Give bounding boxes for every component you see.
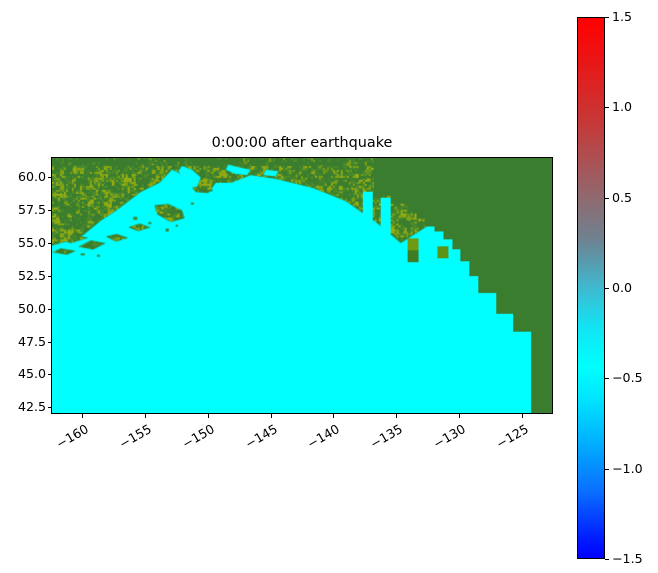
y-tick-label: 52.5 <box>18 269 46 283</box>
colorbar-tick-label: −0.5 <box>612 371 643 385</box>
x-tick-mark <box>208 414 209 418</box>
x-tick-label: −125 <box>470 422 531 465</box>
colorbar-tick-mark <box>605 17 609 18</box>
x-tick-mark <box>396 414 397 418</box>
colorbar-tick-label: −1.0 <box>612 462 643 476</box>
colorbar-tick-label: 1.0 <box>612 100 632 114</box>
y-tick-mark <box>48 374 52 375</box>
y-tick-mark <box>48 276 52 277</box>
colorbar-tick-mark <box>605 107 609 108</box>
colorbar-tick-label: 1.5 <box>612 10 632 24</box>
x-tick-mark <box>459 414 460 418</box>
y-tick-mark <box>48 407 52 408</box>
x-tick-label: −130 <box>407 422 468 465</box>
figure-canvas: 0:00:00 after earthquake 42.545.047.550.… <box>0 0 658 573</box>
tsunami-heightfield-image <box>52 158 552 413</box>
y-tick-mark <box>48 210 52 211</box>
x-tick-mark <box>333 414 334 418</box>
x-tick-mark <box>82 414 83 418</box>
x-tick-mark <box>271 414 272 418</box>
colorbar[interactable] <box>577 17 605 559</box>
colorbar-tick-mark <box>605 288 609 289</box>
y-tick-mark <box>48 177 52 178</box>
y-tick-label: 50.0 <box>18 302 46 316</box>
colorbar-tick-mark <box>605 469 609 470</box>
colorbar-tick-label: −1.5 <box>612 552 643 566</box>
map-axes[interactable] <box>51 157 553 414</box>
colorbar-tick-mark <box>605 559 609 560</box>
y-tick-mark <box>48 309 52 310</box>
y-tick-label: 45.0 <box>18 367 46 381</box>
x-tick-mark <box>145 414 146 418</box>
x-tick-mark <box>522 414 523 418</box>
y-tick-label: 60.0 <box>18 170 46 184</box>
x-tick-label: −150 <box>156 422 217 465</box>
colorbar-tick-label: 0.0 <box>612 281 632 295</box>
y-tick-label: 57.5 <box>18 203 46 217</box>
colorbar-tick-label: 0.5 <box>612 191 632 205</box>
y-tick-mark <box>48 243 52 244</box>
y-tick-mark <box>48 342 52 343</box>
x-tick-label: −145 <box>219 422 280 465</box>
page-title: 0:00:00 after earthquake <box>51 134 553 152</box>
y-tick-label: 47.5 <box>18 335 46 349</box>
colorbar-tick-mark <box>605 378 609 379</box>
x-tick-label: −160 <box>31 422 92 465</box>
x-tick-label: −135 <box>344 422 405 465</box>
x-tick-label: −140 <box>282 422 343 465</box>
colorbar-tick-mark <box>605 198 609 199</box>
y-tick-label: 55.0 <box>18 236 46 250</box>
x-tick-label: −155 <box>93 422 154 465</box>
y-tick-label: 42.5 <box>18 400 46 414</box>
